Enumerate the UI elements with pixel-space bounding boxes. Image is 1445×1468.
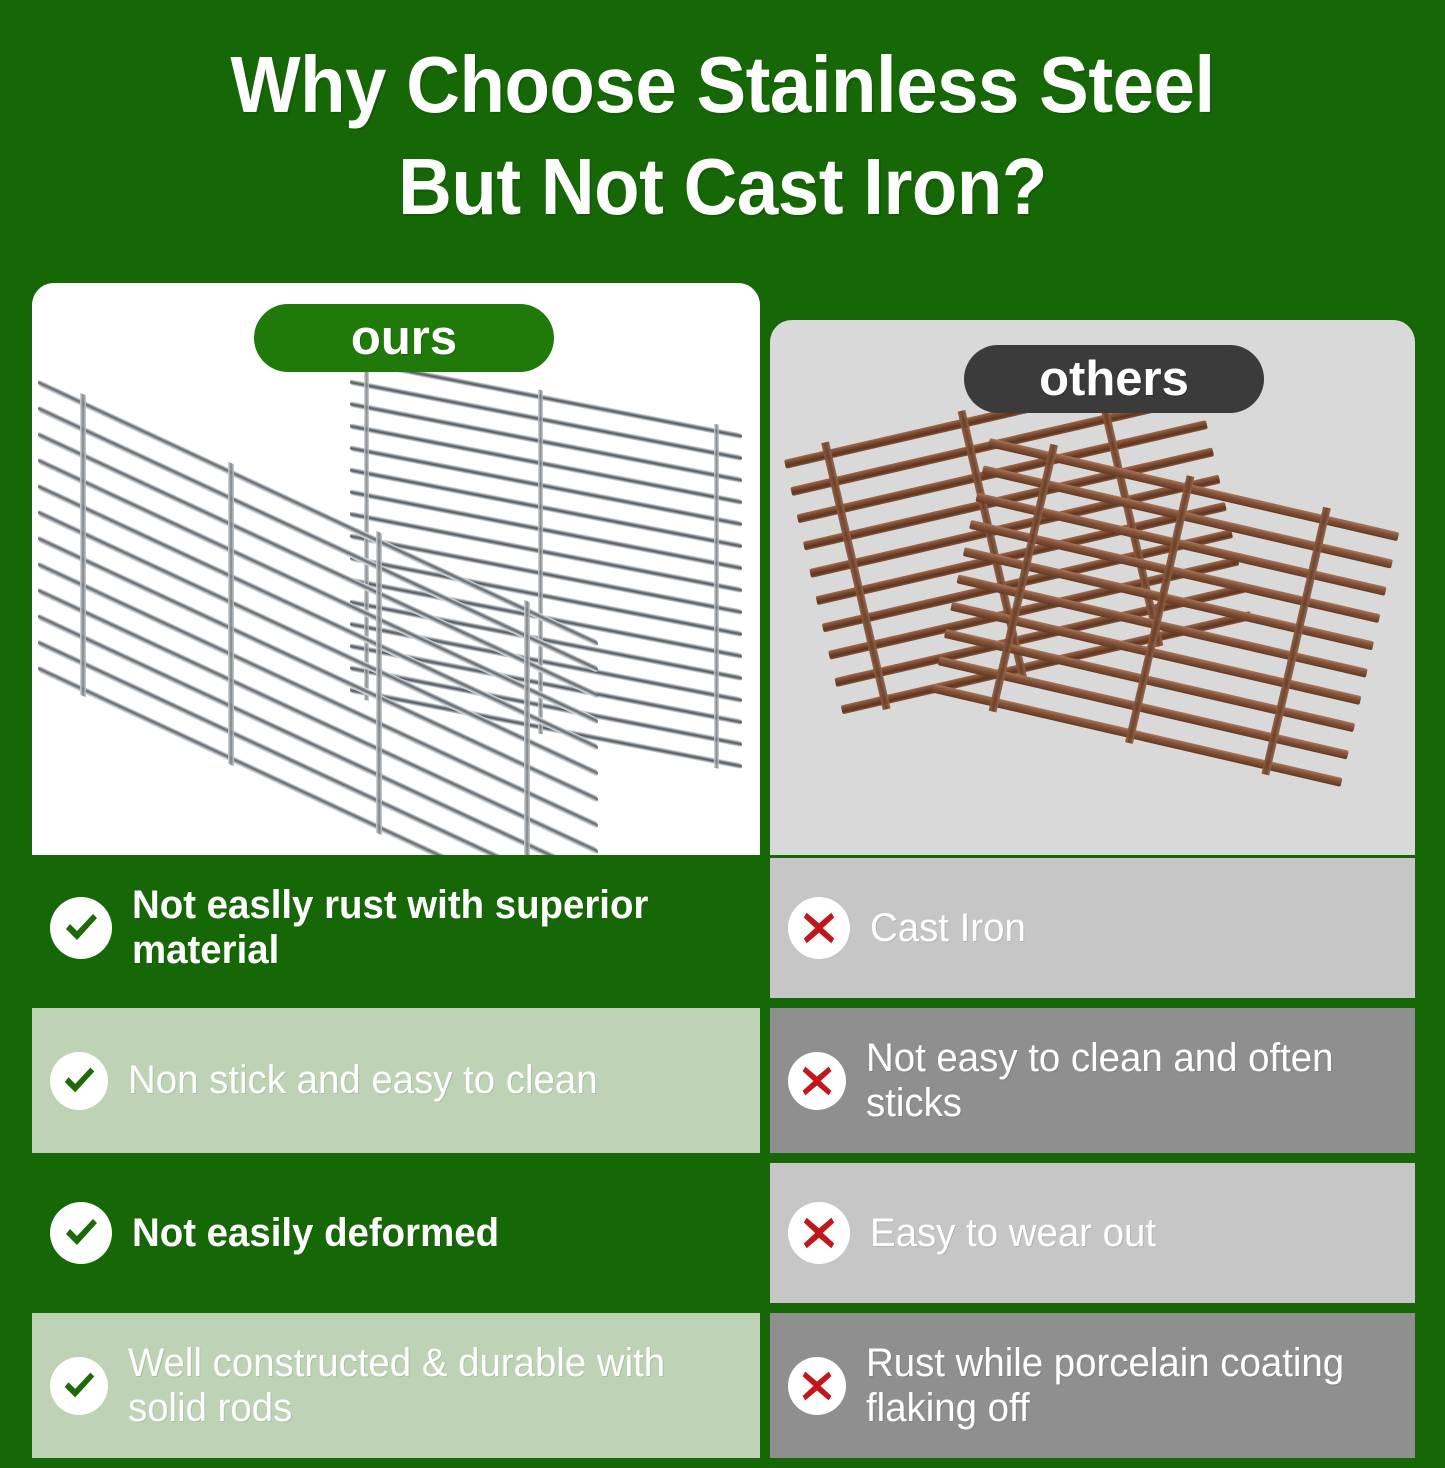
badge-ours-label: ours <box>351 310 457 366</box>
cross-icon <box>788 1357 846 1415</box>
check-icon <box>50 897 112 959</box>
cross-icon <box>788 1202 850 1264</box>
title-line-1: Why Choose Stainless Steel <box>51 34 1395 136</box>
feature-text: Cast Iron <box>870 906 1026 951</box>
feature-row-others-3: Easy to wear out <box>770 1163 1415 1303</box>
badge-others-label: others <box>1039 351 1189 407</box>
feature-text: Rust while porcelain coating flaking off <box>866 1341 1382 1431</box>
page-title: Why Choose Stainless Steel But Not Cast … <box>0 34 1445 239</box>
feature-list-ours: Not easlly rust with superior material N… <box>32 858 760 1468</box>
badge-ours: ours <box>254 304 554 372</box>
cross-icon <box>788 897 850 959</box>
feature-row-others-4: Rust while porcelain coating flaking off <box>770 1313 1415 1458</box>
feature-text: Not easy to clean and often sticks <box>866 1036 1382 1126</box>
feature-text: Not easily deformed <box>132 1211 499 1256</box>
feature-row-ours-4: Well constructed & durable with solid ro… <box>32 1313 760 1458</box>
title-line-2: But Not Cast Iron? <box>51 136 1395 238</box>
cross-icon <box>788 1052 846 1110</box>
feature-text: Easy to wear out <box>870 1211 1156 1256</box>
feature-row-ours-1: Not easlly rust with superior material <box>32 858 760 998</box>
check-icon <box>50 1357 108 1415</box>
check-icon <box>50 1202 112 1264</box>
feature-list-others: Cast Iron Not easy to clean and often st… <box>770 858 1415 1468</box>
feature-row-others-1: Cast Iron <box>770 858 1415 998</box>
feature-row-ours-2: Non stick and easy to clean <box>32 1008 760 1153</box>
feature-text: Non stick and easy to clean <box>128 1058 598 1103</box>
feature-row-others-2: Not easy to clean and often sticks <box>770 1008 1415 1153</box>
badge-others: others <box>964 345 1264 413</box>
feature-text: Well constructed & durable with solid ro… <box>128 1341 723 1431</box>
check-icon <box>50 1052 108 1110</box>
feature-row-ours-3: Not easily deformed <box>32 1163 760 1303</box>
feature-text: Not easlly rust with superior material <box>132 883 723 973</box>
